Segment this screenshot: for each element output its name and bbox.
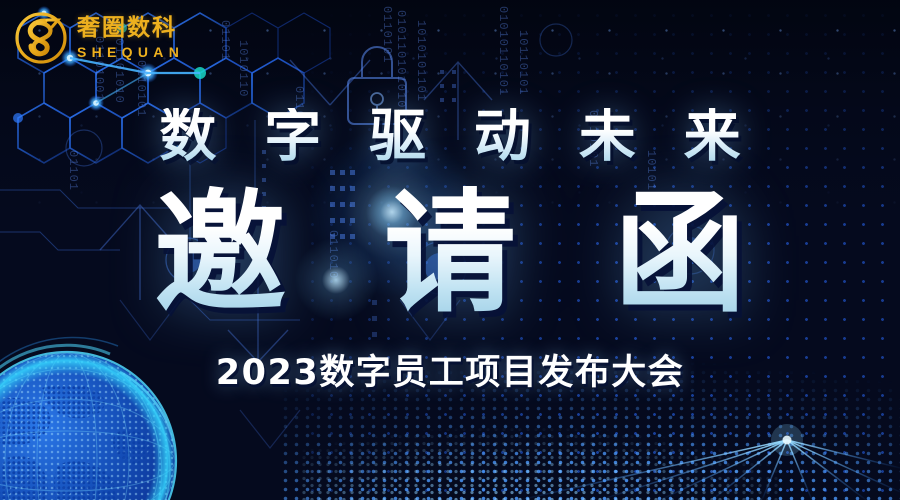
brand-name-cn: 奢圈数科 [77, 17, 184, 40]
shequan-monogram-icon [14, 11, 68, 65]
invitation-poster: 01101001 101101010 0110101 01101 1010110… [0, 0, 900, 500]
page-title: 邀 请 函 [0, 185, 900, 324]
brand-logo[interactable]: 奢圈数科 SHEQUAN [14, 11, 184, 65]
poster-headline: 数 字 驱 动 未 来 [0, 108, 900, 165]
brand-name-en: SHEQUAN [77, 45, 184, 59]
poster-subtitle: 2023数字员工项目发布大会 [0, 356, 900, 391]
